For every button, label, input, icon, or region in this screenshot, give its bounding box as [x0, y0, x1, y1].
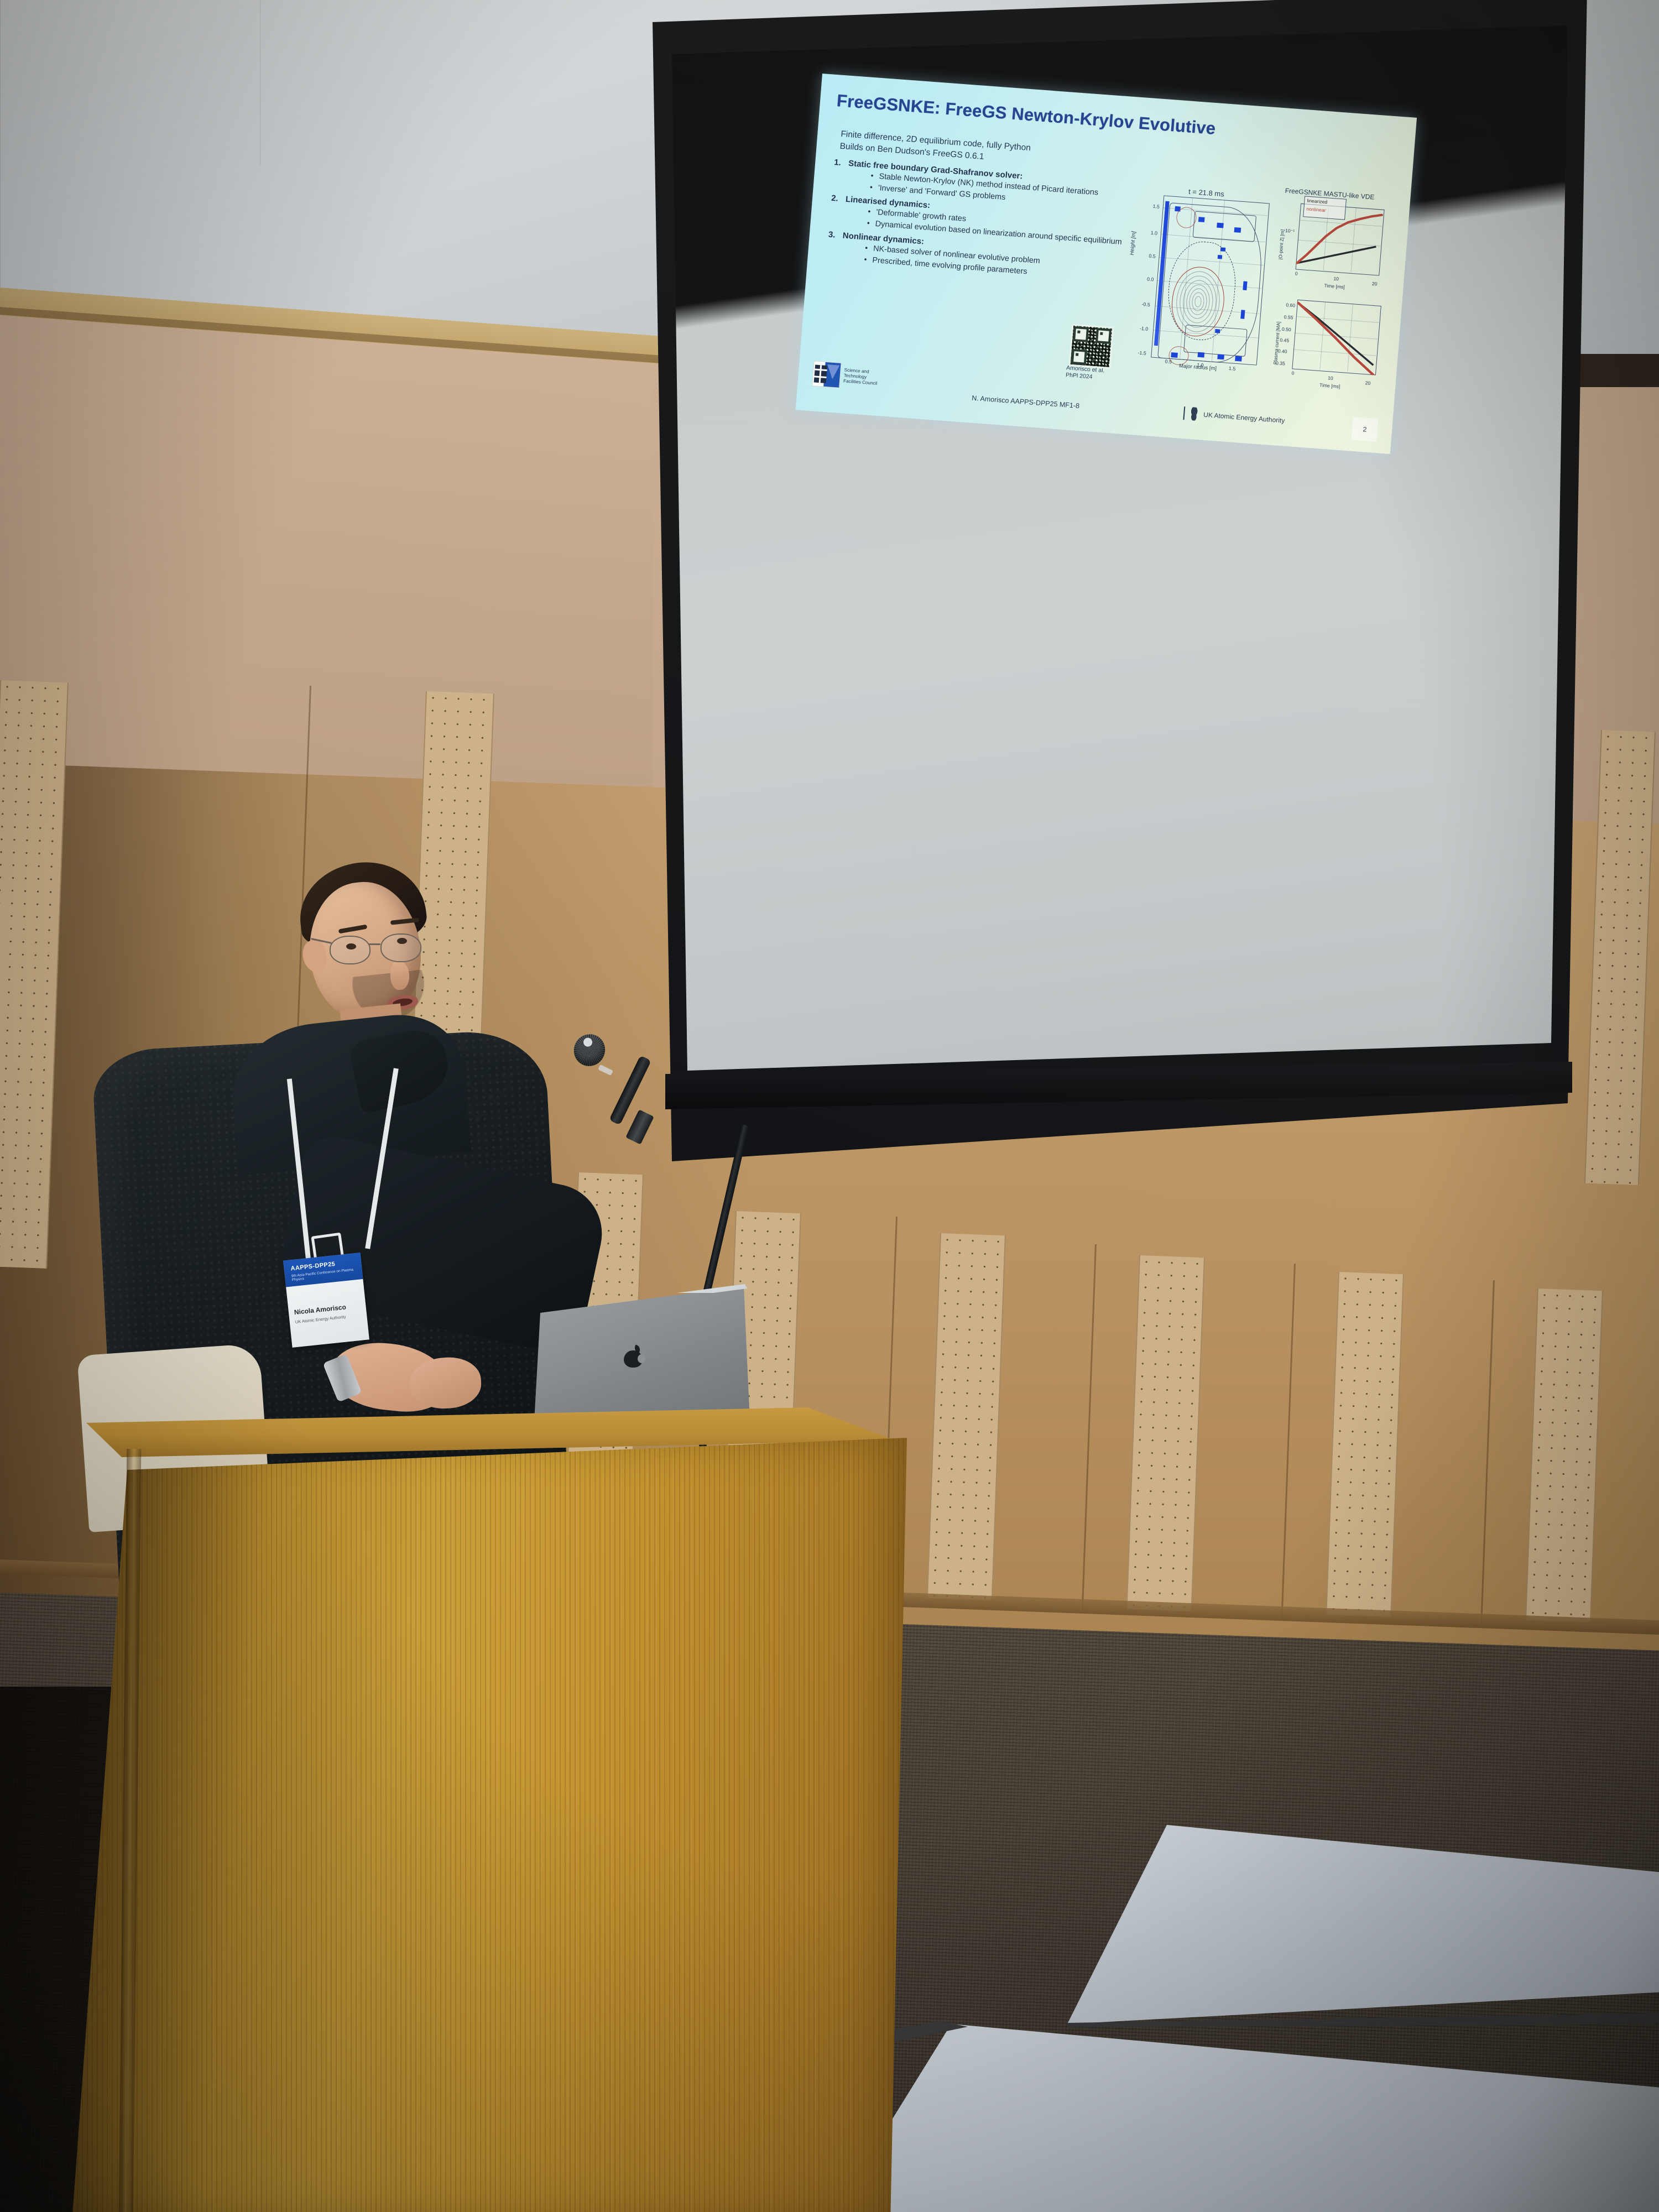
- vde-x-tick: 0: [1295, 270, 1298, 276]
- y-tick-label: -1.0: [1134, 325, 1149, 332]
- stfc-logo: Science and Technology Facilities Counci…: [812, 357, 897, 395]
- y-tick-label: 0.0: [1139, 276, 1154, 283]
- vde-series-svg: [1296, 204, 1385, 276]
- slide-figures: t = 21.8 ms 1.5 1.0 0.5 0.0: [1118, 175, 1392, 393]
- current-series-svg: [1292, 300, 1381, 375]
- acoustic-panel: [1326, 1272, 1404, 1617]
- vde-y-axis-label: |O-point Z| [m]: [1277, 229, 1285, 259]
- y-tick-label: 1.5: [1145, 203, 1160, 210]
- contour-plot-title: t = 21.8 ms: [1188, 187, 1225, 199]
- pf-coil: [1217, 223, 1224, 228]
- current-x-tick: 0: [1291, 370, 1295, 375]
- qr-finder: [1071, 349, 1087, 365]
- pf-coil: [1240, 310, 1245, 319]
- speaker-glasses-icon: [330, 933, 432, 963]
- current-x-tick: 20: [1365, 380, 1370, 386]
- opoint-z-plot: FreeGSNKE MASTU-like VDE linearized nonl…: [1270, 186, 1392, 298]
- stfc-logo-text: Science and Technology Facilities Counci…: [843, 367, 879, 387]
- y-tick-label: 0.5: [1141, 253, 1156, 259]
- qr-finder: [1095, 328, 1112, 344]
- badge-name: Nicola Amorisco: [294, 1303, 346, 1316]
- qr-caption: Amorisco et al. PhPl 2024: [1066, 364, 1113, 382]
- equilibrium-contour-plot: t = 21.8 ms 1.5 1.0 0.5 0.0: [1128, 184, 1273, 375]
- ceiling-seam: [260, 0, 260, 166]
- vde-y-tick: 10⁻¹: [1285, 228, 1295, 234]
- speaker-eye: [346, 943, 356, 950]
- photo-scene: FreeGSNKE: FreeGS Newton-Krylov Evolutiv…: [0, 0, 1659, 2212]
- vde-x-tick: 20: [1372, 281, 1378, 287]
- ceiling-seam: [0, 0, 1, 288]
- pf-coil: [1197, 352, 1204, 358]
- podium-shadow: [72, 1438, 912, 2212]
- acoustic-panel: [1126, 1255, 1205, 1611]
- current-y-axis-label: Plasma current [MA]: [1272, 321, 1281, 364]
- apple-logo-icon: [624, 1345, 643, 1368]
- current-y-tick: 0.60: [1286, 302, 1295, 308]
- logo-divider: [1183, 406, 1185, 420]
- qr-code[interactable]: [1068, 324, 1114, 369]
- ukri-mark-icon: [812, 361, 842, 388]
- conference-badge: AAPPS-DPP25 9th Asia-Pacific Conference …: [283, 1253, 369, 1348]
- plasma-current-plot: 0.35 0.40 0.45 0.50 0.55 0.60 0 10 20 Ti…: [1261, 291, 1384, 399]
- current-y-tick: 0.55: [1284, 314, 1293, 320]
- vde-x-axis-label: Time [ms]: [1324, 283, 1345, 290]
- projected-slide: FreeGSNKE: FreeGS Newton-Krylov Evolutiv…: [796, 74, 1417, 454]
- acoustic-panel: [1525, 1288, 1603, 1623]
- pf-coil: [1243, 281, 1247, 290]
- contour-x-axis-label: Major radius [m]: [1179, 363, 1217, 372]
- y-tick-label: -0.5: [1135, 301, 1150, 307]
- current-x-axis-label: Time [ms]: [1319, 382, 1340, 389]
- current-y-tick: 0.45: [1280, 337, 1289, 343]
- ukaea-crest-icon: [1187, 407, 1201, 421]
- current-y-tick: 0.50: [1282, 326, 1291, 332]
- slide-number: 2: [1351, 417, 1378, 442]
- speaker-eye: [397, 938, 407, 944]
- pf-coil: [1235, 356, 1242, 362]
- x-tick-label: 1.5: [1229, 366, 1236, 372]
- ukaea-logo: UK Atomic Energy Authority: [1183, 406, 1285, 427]
- contour-y-axis-label: Height [m]: [1129, 231, 1137, 255]
- ukaea-logo-text: UK Atomic Energy Authority: [1203, 411, 1285, 425]
- qr-finder: [1073, 326, 1089, 342]
- y-tick-label: -1.5: [1131, 349, 1146, 356]
- pf-coil: [1198, 217, 1205, 222]
- current-x-tick: 10: [1328, 375, 1333, 381]
- vde-x-tick: 10: [1333, 276, 1339, 282]
- upper-structure: [1193, 211, 1257, 242]
- projection-screen: FreeGSNKE: FreeGS Newton-Krylov Evolutiv…: [650, 0, 1590, 1183]
- slide-footer-text: N. Amorisco AAPPS-DPP25 MF1-8: [972, 394, 1080, 410]
- pf-coil: [1217, 354, 1224, 359]
- badge-affiliation: UK Atomic Energy Authority: [295, 1314, 346, 1324]
- acoustic-panel: [927, 1233, 1006, 1600]
- y-tick-label: 1.0: [1143, 229, 1158, 236]
- pf-coil: [1234, 227, 1241, 233]
